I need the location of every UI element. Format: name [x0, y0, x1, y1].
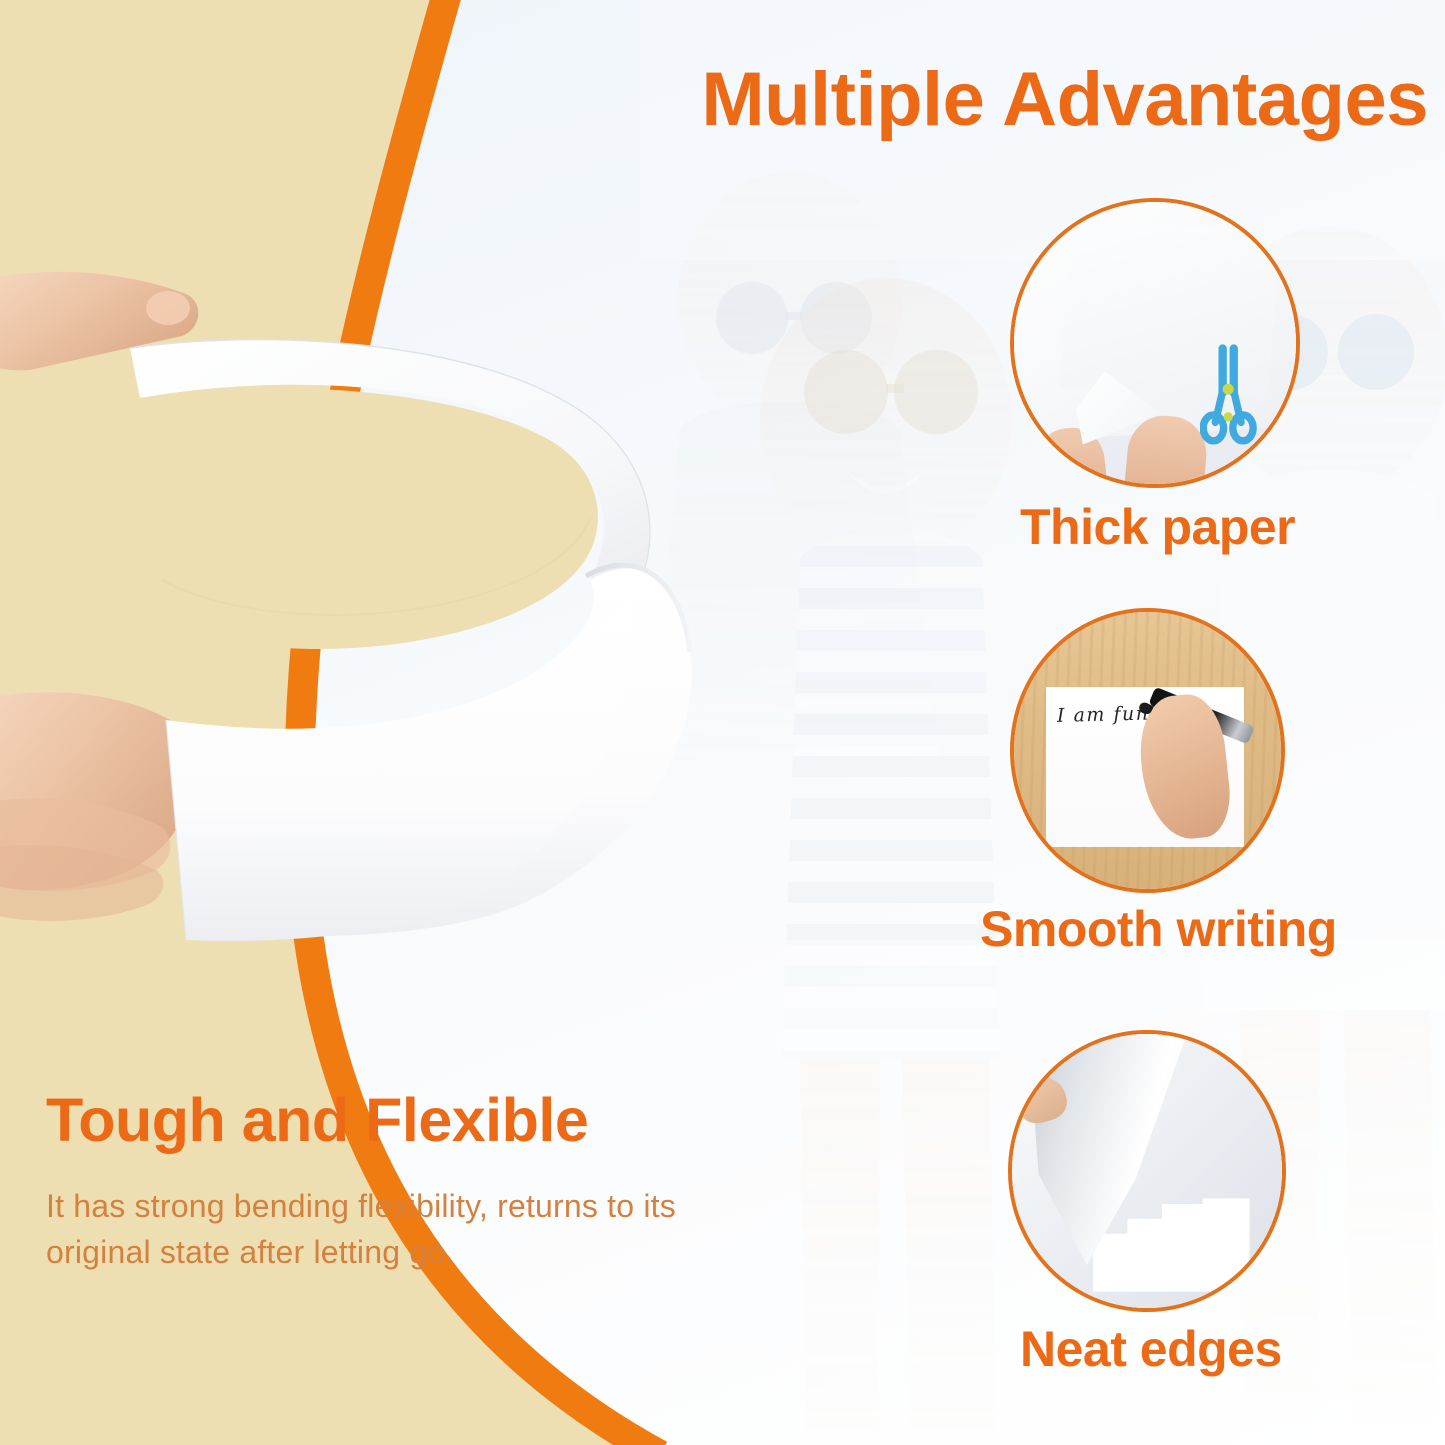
blue-scissors-icon — [1200, 343, 1256, 445]
left-panel-body-text: It has strong bending flexibility, retur… — [46, 1183, 746, 1276]
poster-canvas: Multiple Advantages Tough and Flexible I… — [0, 0, 1445, 1445]
feature-label-smooth-writing: Smooth writing — [980, 900, 1337, 958]
feature-thick-paper[interactable]: Thick paper — [1010, 198, 1300, 488]
page-title: Multiple Advantages — [600, 60, 1428, 140]
thick-paper-photo — [1010, 198, 1300, 488]
feature-neat-edges[interactable]: Neat edges — [1008, 1030, 1286, 1312]
left-panel-heading: Tough and Flexible — [46, 1085, 588, 1155]
smooth-writing-photo: I am fun, and — [1010, 608, 1285, 893]
feature-label-neat-edges: Neat edges — [1020, 1320, 1282, 1378]
hero-photo-hand-bending-paper — [0, 250, 710, 950]
neat-edges-photo — [1008, 1030, 1286, 1312]
feature-label-thick-paper: Thick paper — [1020, 498, 1295, 556]
feature-smooth-writing[interactable]: I am fun, and Smooth writing — [1010, 608, 1285, 893]
